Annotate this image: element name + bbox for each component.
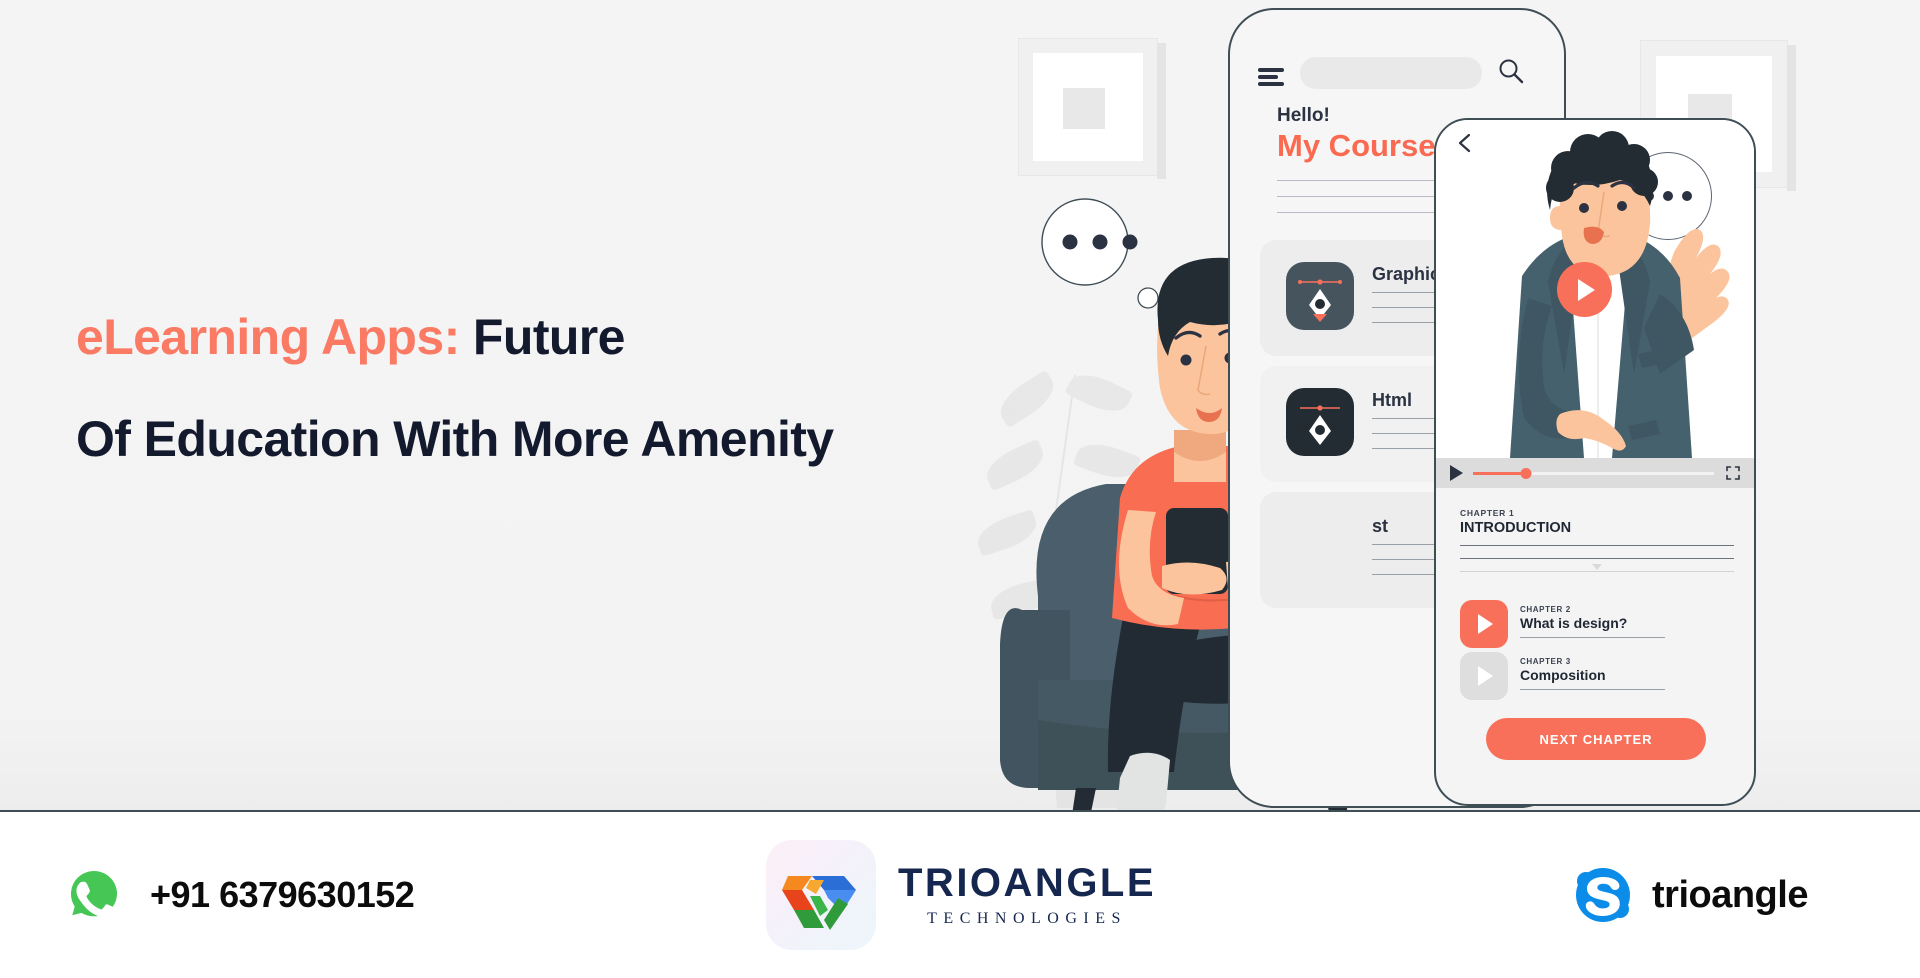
chapter-list-item[interactable]: CHAPTER 3 Composition xyxy=(1460,652,1665,700)
brand-subtitle: TECHNOLOGIES xyxy=(898,910,1156,928)
chevron-down-icon[interactable] xyxy=(1592,564,1602,570)
headline-rest: Future xyxy=(460,309,625,365)
chapter-text: CHAPTER 3 Composition xyxy=(1520,652,1665,690)
frame-spine xyxy=(1157,43,1166,179)
progress-scrubber[interactable] xyxy=(1473,472,1714,475)
trioangle-triangle-logo-icon xyxy=(766,840,876,950)
whatsapp-icon[interactable] xyxy=(62,863,126,927)
current-chapter-block: CHAPTER 1 INTRODUCTION xyxy=(1460,508,1734,584)
play-triangle xyxy=(1578,279,1595,301)
chapter-play-thumb[interactable] xyxy=(1460,600,1508,648)
footer-brand: TRIOANGLE TECHNOLOGIES xyxy=(766,840,1156,950)
headline-accent: eLearning Apps: xyxy=(76,309,460,365)
chapter-tag: CHAPTER 1 xyxy=(1460,508,1734,518)
course-title: Html xyxy=(1372,390,1412,411)
frame-spine xyxy=(1787,45,1796,191)
course-title: Graphic xyxy=(1372,264,1440,285)
play-triangle xyxy=(1478,666,1493,686)
next-chapter-button[interactable]: NEXT CHAPTER xyxy=(1486,718,1706,760)
chapter-title: INTRODUCTION xyxy=(1460,520,1734,536)
hamburger-menu-icon[interactable] xyxy=(1258,68,1284,86)
frame-art xyxy=(1063,88,1104,129)
chapter-title: What is design? xyxy=(1520,615,1665,631)
chapter-list-item[interactable]: CHAPTER 2 What is design? xyxy=(1460,600,1665,648)
phone-number[interactable]: +91 6379630152 xyxy=(150,874,414,916)
skype-icon[interactable] xyxy=(1572,864,1634,926)
pen-nib-icon xyxy=(1286,388,1354,456)
chapter-tag: CHAPTER 3 xyxy=(1520,657,1665,666)
search-icon[interactable] xyxy=(1498,58,1524,84)
play-triangle xyxy=(1478,614,1493,634)
phone-mockup-player: CHAPTER 1 INTRODUCTION CHAPTER 2 What is… xyxy=(1434,118,1756,806)
pen-nib-icon xyxy=(1286,262,1354,330)
fullscreen-icon[interactable] xyxy=(1726,466,1740,480)
elearning-banner: Hello! My Courses Graphic xyxy=(0,0,1920,978)
wall-frame-left xyxy=(1018,38,1158,176)
greeting-text: Hello! xyxy=(1277,105,1330,127)
skype-handle[interactable]: trioangle xyxy=(1652,874,1808,917)
headline-line-1: eLearning Apps: Future xyxy=(76,312,976,363)
progress-fill xyxy=(1473,472,1526,475)
chapter-rules xyxy=(1460,545,1734,572)
chapter-underline xyxy=(1520,689,1665,690)
courses-title: My Courses xyxy=(1277,128,1453,164)
play-circle-icon[interactable] xyxy=(1557,262,1612,317)
video-player-area[interactable] xyxy=(1436,120,1754,458)
play-icon[interactable] xyxy=(1450,465,1463,481)
search-input[interactable] xyxy=(1300,57,1482,89)
chapter-text: CHAPTER 2 What is design? xyxy=(1520,600,1665,638)
chapter-tag: CHAPTER 2 xyxy=(1520,605,1665,614)
hero-section: Hello! My Courses Graphic xyxy=(0,0,1920,812)
footer-skype[interactable]: trioangle xyxy=(1572,864,1808,926)
brand-lockup: TRIOANGLE TECHNOLOGIES xyxy=(898,863,1156,928)
footer-bar: +91 6379630152 TRIOAN xyxy=(0,812,1920,978)
hero-headline: eLearning Apps: Future Of Education With… xyxy=(76,312,976,465)
footer-contact[interactable]: +91 6379630152 xyxy=(62,863,414,927)
chapter-title: Composition xyxy=(1520,667,1665,683)
chapter-play-thumb[interactable] xyxy=(1460,652,1508,700)
chapter-underline xyxy=(1520,637,1665,638)
progress-knob[interactable] xyxy=(1521,468,1532,479)
course-title: st xyxy=(1372,516,1388,537)
video-control-bar[interactable] xyxy=(1436,458,1754,488)
headline-line-2: Of Education With More Amenity xyxy=(76,414,976,465)
brand-name: TRIOANGLE xyxy=(898,863,1156,903)
